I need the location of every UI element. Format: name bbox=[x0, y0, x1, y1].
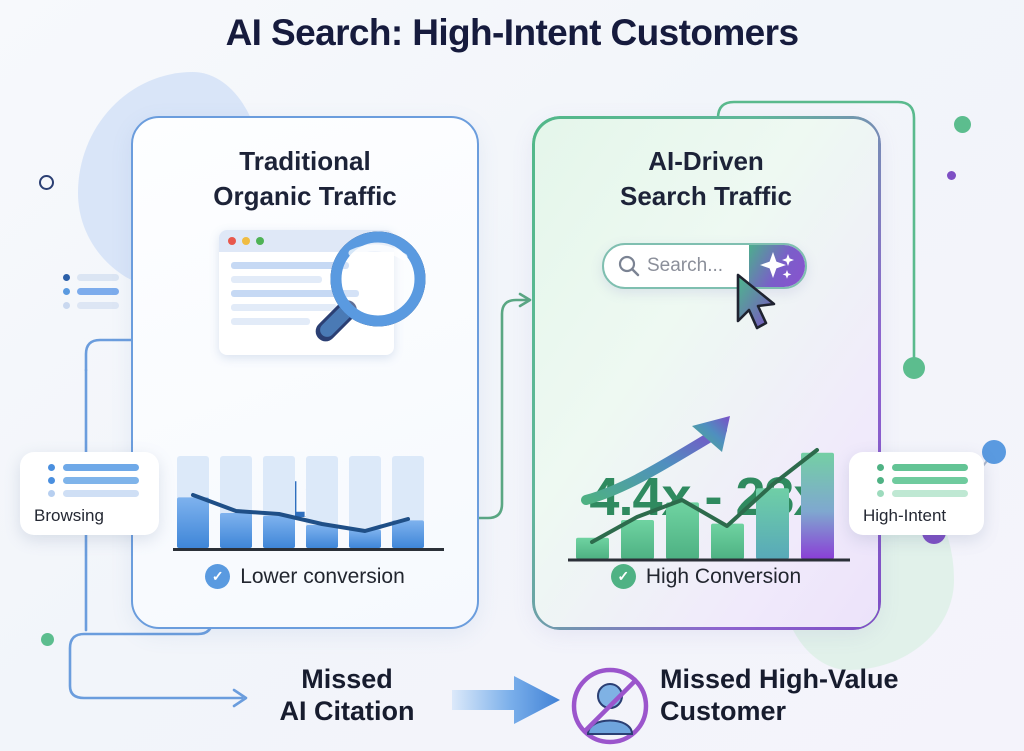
page-title: AI Search: High-Intent Customers bbox=[0, 12, 1024, 54]
circle-outline-decoration bbox=[39, 175, 54, 190]
browser-content-lines bbox=[219, 252, 394, 335]
missed-customer-line1: Missed High-Value bbox=[660, 663, 980, 695]
traffic-light-green bbox=[256, 237, 264, 245]
green-dot-decoration-top-right bbox=[954, 116, 971, 133]
list-lines-icon bbox=[863, 464, 968, 497]
left-conversion-label: Lower conversion bbox=[240, 565, 405, 589]
check-circle-icon: ✓ bbox=[205, 564, 230, 589]
card-left-title-line1: Traditional bbox=[133, 144, 477, 179]
chart-traditional-traffic bbox=[171, 450, 446, 560]
right-arrow-icon bbox=[452, 674, 562, 726]
browser-window-mock bbox=[219, 230, 394, 355]
chart-ai-driven-traffic bbox=[564, 408, 854, 563]
purple-dot-decoration bbox=[947, 171, 956, 180]
no-user-icon bbox=[570, 666, 650, 746]
missed-citation-line2: AI Citation bbox=[256, 695, 438, 727]
traffic-light-yellow bbox=[242, 237, 250, 245]
browser-titlebar bbox=[219, 230, 394, 252]
missed-customer-line2: Customer bbox=[660, 695, 980, 727]
card-left-title: Traditional Organic Traffic bbox=[133, 144, 477, 214]
missed-citation-line1: Missed bbox=[256, 663, 438, 695]
infographic-canvas: AI Search: High-Intent Customers Traditi… bbox=[0, 0, 1024, 751]
card-right-title: AI-Driven Search Traffic bbox=[534, 144, 878, 214]
chip-high-intent-label: High-Intent bbox=[863, 506, 946, 526]
card-ai-driven-search-traffic[interactable]: AI-Driven Search Traffic Search... bbox=[532, 116, 880, 629]
missed-high-value-customer-label: Missed High-Value Customer bbox=[660, 663, 980, 728]
traffic-light-red bbox=[228, 237, 236, 245]
right-conversion-row: ✓ High Conversion bbox=[534, 564, 878, 589]
right-conversion-label: High Conversion bbox=[646, 565, 801, 589]
left-conversion-row: ✓ Lower conversion bbox=[133, 564, 477, 589]
search-icon bbox=[618, 255, 640, 277]
missed-ai-citation-label: Missed AI Citation bbox=[256, 663, 438, 728]
mouse-cursor-icon bbox=[734, 273, 784, 335]
list-lines-decoration-left bbox=[63, 274, 119, 309]
chip-browsing-label: Browsing bbox=[34, 506, 104, 526]
card-traditional-organic-traffic[interactable]: Traditional Organic Traffic bbox=[131, 116, 479, 629]
card-right-title-line2: Search Traffic bbox=[534, 179, 878, 214]
check-circle-icon: ✓ bbox=[611, 564, 636, 589]
list-lines-icon bbox=[34, 464, 139, 497]
chip-browsing[interactable]: Browsing bbox=[20, 452, 159, 535]
green-dot-decoration-bottom-left bbox=[41, 633, 54, 646]
card-right-title-line1: AI-Driven bbox=[534, 144, 878, 179]
chip-high-intent[interactable]: High-Intent bbox=[849, 452, 984, 535]
card-left-title-line2: Organic Traffic bbox=[133, 179, 477, 214]
